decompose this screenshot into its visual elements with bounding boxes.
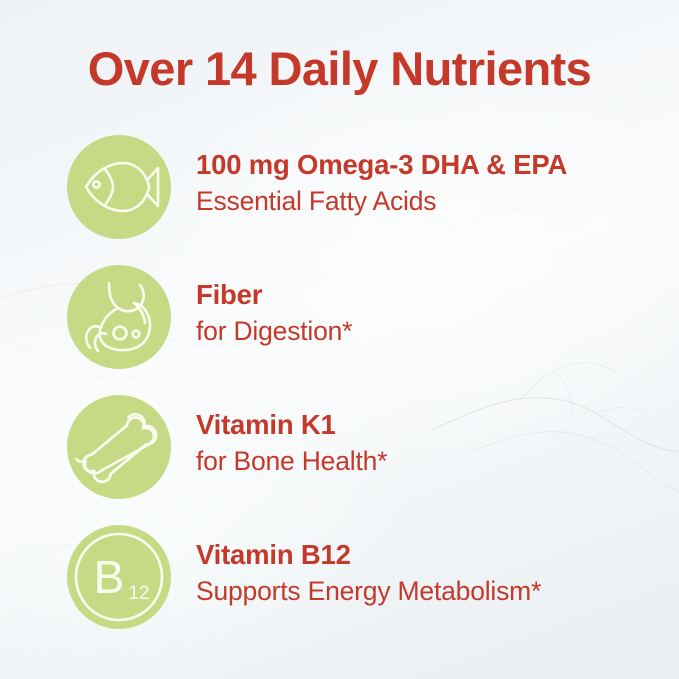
nutrient-subtitle: for Bone Health* [196, 444, 387, 478]
nutrient-text-block: Vitamin K1 for Bone Health* [196, 408, 387, 478]
b12-icon-subscript: 12 [128, 583, 149, 604]
nutrient-title: 100 mg Omega-3 DHA & EPA [196, 148, 567, 182]
bone-icon [83, 411, 155, 483]
list-item: B 12 Vitamin B12 Supports Energy Metabol… [0, 512, 679, 642]
nutrient-subtitle: Supports Energy Metabolism* [196, 574, 541, 608]
list-item: 100 mg Omega-3 DHA & EPA Essential Fatty… [0, 122, 679, 252]
nutrient-title: Vitamin B12 [196, 538, 541, 572]
nutrient-infographic: Over 14 Daily Nutrients [0, 0, 679, 679]
nutrient-title: Vitamin K1 [196, 408, 387, 442]
stomach-icon [82, 281, 156, 353]
b12-icon-letter: B [94, 551, 125, 603]
bone-icon-badge [67, 395, 171, 499]
list-item: Vitamin K1 for Bone Health* [0, 382, 679, 512]
nutrient-list: 100 mg Omega-3 DHA & EPA Essential Fatty… [0, 122, 679, 642]
page-title: Over 14 Daily Nutrients [0, 41, 679, 96]
fish-icon-badge [67, 135, 171, 239]
nutrient-text-block: Fiber for Digestion* [196, 278, 352, 348]
list-item: Fiber for Digestion* [0, 252, 679, 382]
fish-icon [79, 158, 159, 216]
nutrient-subtitle: for Digestion* [196, 314, 352, 348]
nutrient-subtitle: Essential Fatty Acids [196, 184, 567, 218]
stomach-icon-badge [67, 265, 171, 369]
b12-icon: B 12 [73, 531, 165, 623]
nutrient-title: Fiber [196, 278, 352, 312]
nutrient-text-block: 100 mg Omega-3 DHA & EPA Essential Fatty… [196, 148, 567, 218]
b12-icon-badge: B 12 [67, 525, 171, 629]
nutrient-text-block: Vitamin B12 Supports Energy Metabolism* [196, 538, 541, 608]
